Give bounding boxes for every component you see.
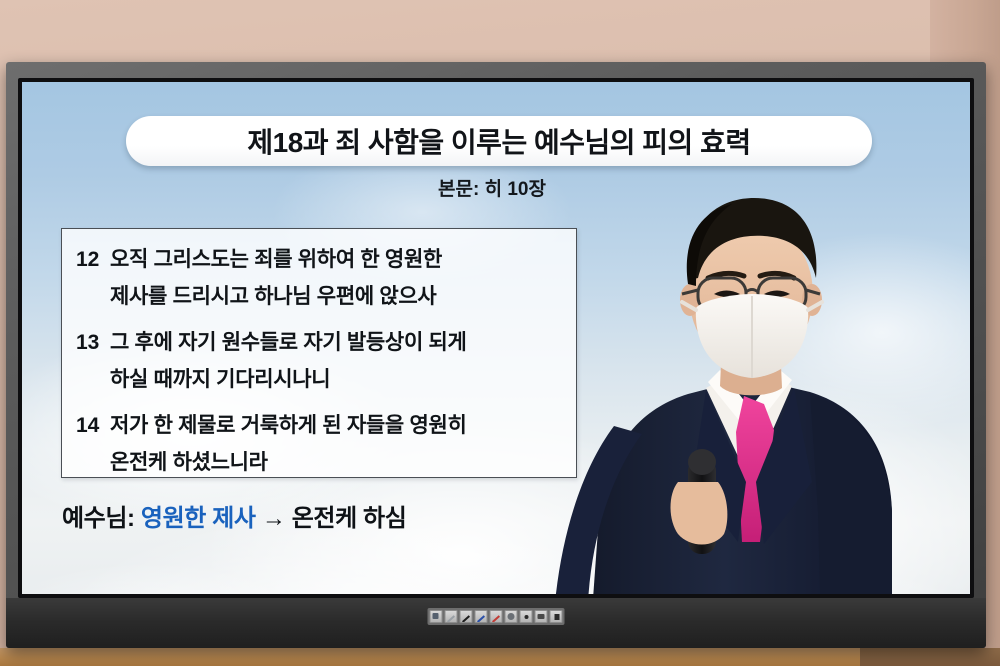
pen-black-icon[interactable]	[460, 610, 473, 623]
presentation-room-scene: 제18과 죄 사함을 이루는 예수님의 피의 효력 본문: 히 10장 12 오…	[0, 0, 1000, 666]
verse-number: 13	[76, 324, 110, 398]
page-title: 제18과 죄 사함을 이루는 예수님의 피의 효력	[247, 121, 750, 161]
verse-line: 저가 한 제물로 거룩하게 된 자들을 영원히	[110, 407, 566, 444]
verse-number: 12	[76, 241, 110, 315]
summary-suffix: → 온전케 하심	[256, 505, 407, 532]
pen-gray-icon[interactable]	[445, 610, 458, 623]
verse-row: 12 오직 그리스도는 죄를 위하여 한 영원한 제사를 드리시고 하나님 우편…	[76, 241, 566, 315]
slide-subtitle: 본문: 히 10장	[22, 174, 962, 201]
verse-line: 그 후에 자기 원수들로 자기 발등상이 되게	[110, 324, 566, 361]
verse-line: 하실 때까지 기다리시나니	[110, 361, 566, 398]
verse-body: 오직 그리스도는 죄를 위하여 한 영원한 제사를 드리시고 하나님 우편에 앉…	[110, 241, 566, 315]
display-toolbar[interactable]	[428, 608, 565, 625]
slide-content: 제18과 죄 사함을 이루는 예수님의 피의 효력 본문: 히 10장 12 오…	[22, 82, 970, 594]
pen-blue-icon[interactable]	[475, 610, 488, 623]
verse-line: 제사를 드리시고 하나님 우편에 앉으사	[110, 278, 566, 315]
display-screen[interactable]: 제18과 죄 사함을 이루는 예수님의 피의 효력 본문: 히 10장 12 오…	[22, 82, 970, 594]
verse-line: 오직 그리스도는 죄를 위하여 한 영원한	[110, 241, 566, 278]
display-bottom-bezel	[6, 598, 986, 648]
next-slide-icon[interactable]	[550, 610, 563, 623]
scripture-text-box: 12 오직 그리스도는 죄를 위하여 한 영원한 제사를 드리시고 하나님 우편…	[61, 228, 577, 478]
verse-row: 14 저가 한 제물로 거룩하게 된 자들을 영원히 온전케 하셨느니라	[76, 407, 566, 481]
display-inner-frame: 제18과 죄 사함을 이루는 예수님의 피의 효력 본문: 히 10장 12 오…	[18, 78, 974, 598]
verse-row: 13 그 후에 자기 원수들로 자기 발등상이 되게 하실 때까지 기다리시나니	[76, 324, 566, 398]
verse-body: 저가 한 제물로 거룩하게 된 자들을 영원히 온전케 하셨느니라	[110, 407, 566, 481]
verse-body: 그 후에 자기 원수들로 자기 발등상이 되게 하실 때까지 기다리시나니	[110, 324, 566, 398]
floor-surface	[0, 648, 1000, 666]
summary-highlight: 영원한 제사	[141, 505, 256, 532]
verse-number: 14	[76, 407, 110, 481]
interactive-display[interactable]: 제18과 죄 사함을 이루는 예수님의 피의 효력 본문: 히 10장 12 오…	[6, 62, 986, 648]
select-tool-icon[interactable]	[430, 610, 443, 623]
pen-red-icon[interactable]	[490, 610, 503, 623]
slide-title-banner: 제18과 죄 사함을 이루는 예수님의 피의 효력	[126, 116, 872, 166]
summary-prefix: 예수님:	[62, 505, 141, 532]
eraser-icon[interactable]	[505, 610, 518, 623]
slide-summary-line: 예수님: 영원한 제사 → 온전케 하심	[62, 498, 406, 533]
dot-tool-icon[interactable]	[520, 610, 533, 623]
verse-line: 온전케 하셨느니라	[110, 444, 566, 481]
keyboard-icon[interactable]	[535, 610, 548, 623]
